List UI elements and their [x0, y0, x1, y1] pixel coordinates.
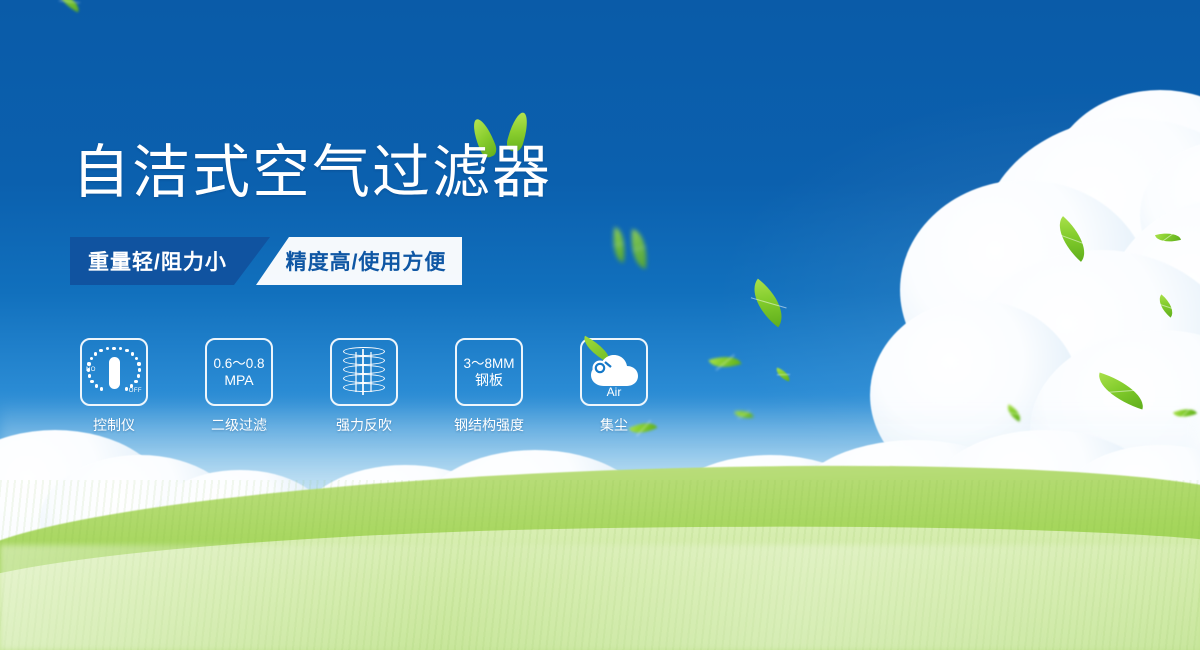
subtitle-right-panel: 精度高/使用方便: [256, 237, 462, 285]
floating-leaf-icon: [1004, 404, 1025, 422]
cloud-air-icon: Air: [586, 347, 642, 397]
floating-leaf-icon: [1173, 404, 1197, 422]
gauge-no-label: NO: [86, 367, 96, 373]
cloud-shape: [980, 118, 1200, 368]
subtitle-left-text: 重量轻/阻力小: [88, 246, 227, 276]
floating-leaf-icon: [742, 279, 794, 328]
feature-label: 控制仪: [93, 415, 135, 435]
feature-icon-box: 3～8MM 钢板: [455, 338, 523, 406]
feature-icon-box: [330, 338, 398, 406]
feature-item-steel[interactable]: 3～8MM 钢板 钢结构强度: [455, 338, 523, 435]
air-label: Air: [586, 385, 642, 399]
feature-label: 强力反吹: [336, 415, 392, 435]
floating-leaf-icon: [1154, 294, 1179, 317]
feature-text-line1: 3～8MM: [463, 356, 514, 372]
feature-icon-box: 0.6～0.8 MPA: [205, 338, 273, 406]
floating-leaf-icon: [610, 227, 629, 263]
feature-label: 二级过滤: [211, 415, 267, 435]
feature-item-controller[interactable]: NO OFF 控制仪: [80, 338, 148, 435]
feature-item-filtration[interactable]: 0.6～0.8 MPA 二级过滤: [205, 338, 273, 435]
feature-text-line1: 0.6～0.8: [213, 356, 264, 372]
cloud-glyph-icon: [586, 353, 642, 387]
feature-icon-box: NO OFF: [80, 338, 148, 406]
floating-leaf-icon: [734, 409, 753, 421]
gauge-icon: NO OFF: [87, 345, 141, 399]
floating-leaf-icon: [55, 0, 83, 12]
feature-list: NO OFF 控制仪 0.6～0.8 MPA 二级过滤: [80, 338, 648, 435]
subtitle-right-text: 精度高/使用方便: [286, 246, 447, 276]
floating-leaf-icon: [1048, 216, 1095, 262]
floating-leaf-icon: [774, 368, 792, 382]
gauge-needle-icon: [109, 357, 120, 389]
feature-text-line2: MPA: [224, 372, 253, 388]
cloud-shape: [1100, 200, 1200, 460]
cloud-shape: [1140, 140, 1200, 290]
feature-icon-box: Air: [580, 338, 648, 406]
grass-sheen: [0, 545, 1200, 650]
floating-leaf-icon: [1155, 229, 1181, 245]
floating-leaf-icon: [709, 351, 742, 374]
product-banner: 自洁式空气过滤器 重量轻/阻力小 精度高/使用方便: [0, 0, 1200, 650]
subtitle-left-panel: 重量轻/阻力小: [70, 237, 270, 285]
floating-leaf-icon: [1093, 373, 1149, 410]
floating-leaf-icon: [628, 229, 650, 269]
feature-item-dust[interactable]: Air 集尘: [580, 338, 648, 435]
cloud-shape: [960, 250, 1200, 480]
coil-filter-icon: [343, 347, 385, 397]
feature-item-blowback[interactable]: 强力反吹: [330, 338, 398, 435]
feature-label: 钢结构强度: [454, 415, 524, 435]
feature-label: 集尘: [600, 415, 628, 435]
page-title: 自洁式空气过滤器: [72, 143, 552, 204]
subtitle-bar: 重量轻/阻力小 精度高/使用方便: [70, 237, 462, 285]
cloud-shape: [870, 300, 1080, 490]
gauge-off-label: OFF: [129, 388, 142, 394]
feature-text-line2: 钢板: [475, 372, 503, 388]
cloud-shape: [900, 180, 1150, 400]
